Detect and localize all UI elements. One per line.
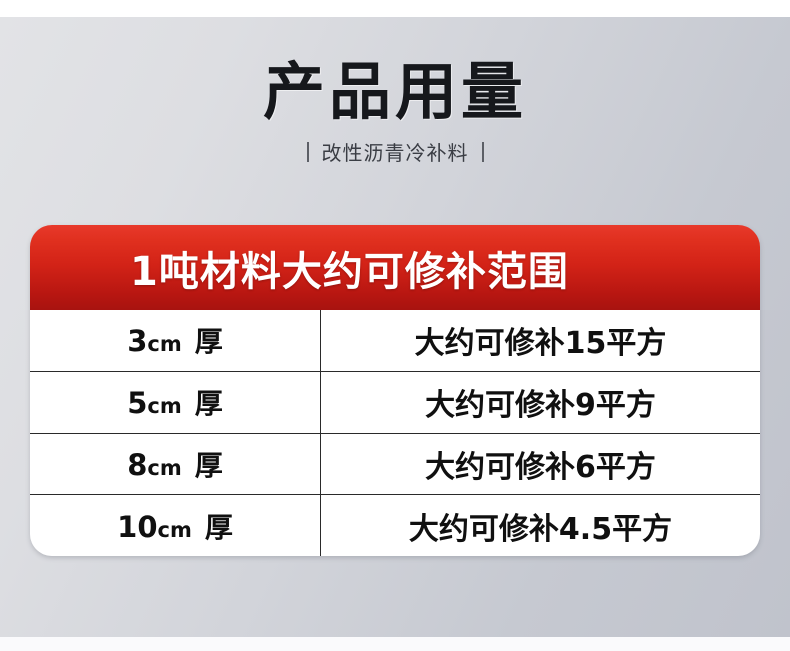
cell-thickness: 3cm 厚: [30, 310, 321, 371]
cell-thickness: 8cm 厚: [30, 434, 321, 495]
table-row: 3cm 厚 大约可修补15平方: [30, 310, 760, 371]
header-block: 产品用量 改性沥青冷补料: [0, 60, 790, 166]
thickness-value: 3: [127, 324, 147, 358]
coverage-label: 大约可修补9平方: [425, 380, 656, 424]
cell-coverage: 大约可修补9平方: [321, 372, 760, 433]
table-row: 5cm 厚 大约可修补9平方: [30, 371, 760, 433]
thickness-label: 3cm 厚: [127, 320, 223, 360]
product-usage-infographic: 产品用量 改性沥青冷补料 1吨材料大约可修补范围 3cm 厚 大约可修补15平方: [0, 0, 790, 651]
top-white-strip: [0, 0, 790, 17]
thickness-word: 厚: [195, 320, 223, 360]
subtitle-row: 改性沥青冷补料: [0, 137, 790, 166]
thickness-label: 5cm 厚: [127, 382, 223, 422]
cell-coverage: 大约可修补6平方: [321, 434, 760, 495]
thickness-unit: cm: [147, 456, 181, 480]
banner-title: 1吨材料大约可修补范围: [130, 239, 569, 297]
page-subtitle: 改性沥青冷补料: [322, 137, 469, 166]
thickness-value: 8: [127, 448, 147, 482]
table-row: 8cm 厚 大约可修补6平方: [30, 433, 760, 495]
divider-bar-left-icon: [307, 142, 309, 162]
usage-table: 3cm 厚 大约可修补15平方 5cm 厚 大约可修补9平方: [30, 310, 760, 556]
usage-table-card: 1吨材料大约可修补范围 3cm 厚 大约可修补15平方 5cm: [30, 225, 760, 556]
table-row: 10cm 厚 大约可修补4.5平方: [30, 494, 760, 556]
thickness-word: 厚: [195, 444, 223, 484]
thickness-unit: cm: [158, 518, 192, 542]
coverage-label: 大约可修补6平方: [425, 442, 656, 486]
cell-thickness: 5cm 厚: [30, 372, 321, 433]
cell-coverage: 大约可修补4.5平方: [321, 495, 760, 556]
page-title: 产品用量: [0, 60, 790, 123]
thickness-value: 5: [127, 386, 147, 420]
coverage-label: 大约可修补15平方: [415, 318, 667, 362]
thickness-unit: cm: [147, 394, 181, 418]
cell-thickness: 10cm 厚: [30, 495, 321, 556]
thickness-value: 10: [117, 510, 157, 544]
thickness-label: 10cm 厚: [117, 506, 233, 546]
bottom-white-strip: [0, 637, 790, 651]
thickness-word: 厚: [205, 506, 233, 546]
coverage-label: 大约可修补4.5平方: [409, 504, 672, 548]
table-banner: 1吨材料大约可修补范围: [30, 225, 760, 310]
cell-coverage: 大约可修补15平方: [321, 310, 760, 371]
thickness-word: 厚: [195, 382, 223, 422]
divider-bar-right-icon: [482, 142, 484, 162]
thickness-unit: cm: [147, 332, 181, 356]
thickness-label: 8cm 厚: [127, 444, 223, 484]
